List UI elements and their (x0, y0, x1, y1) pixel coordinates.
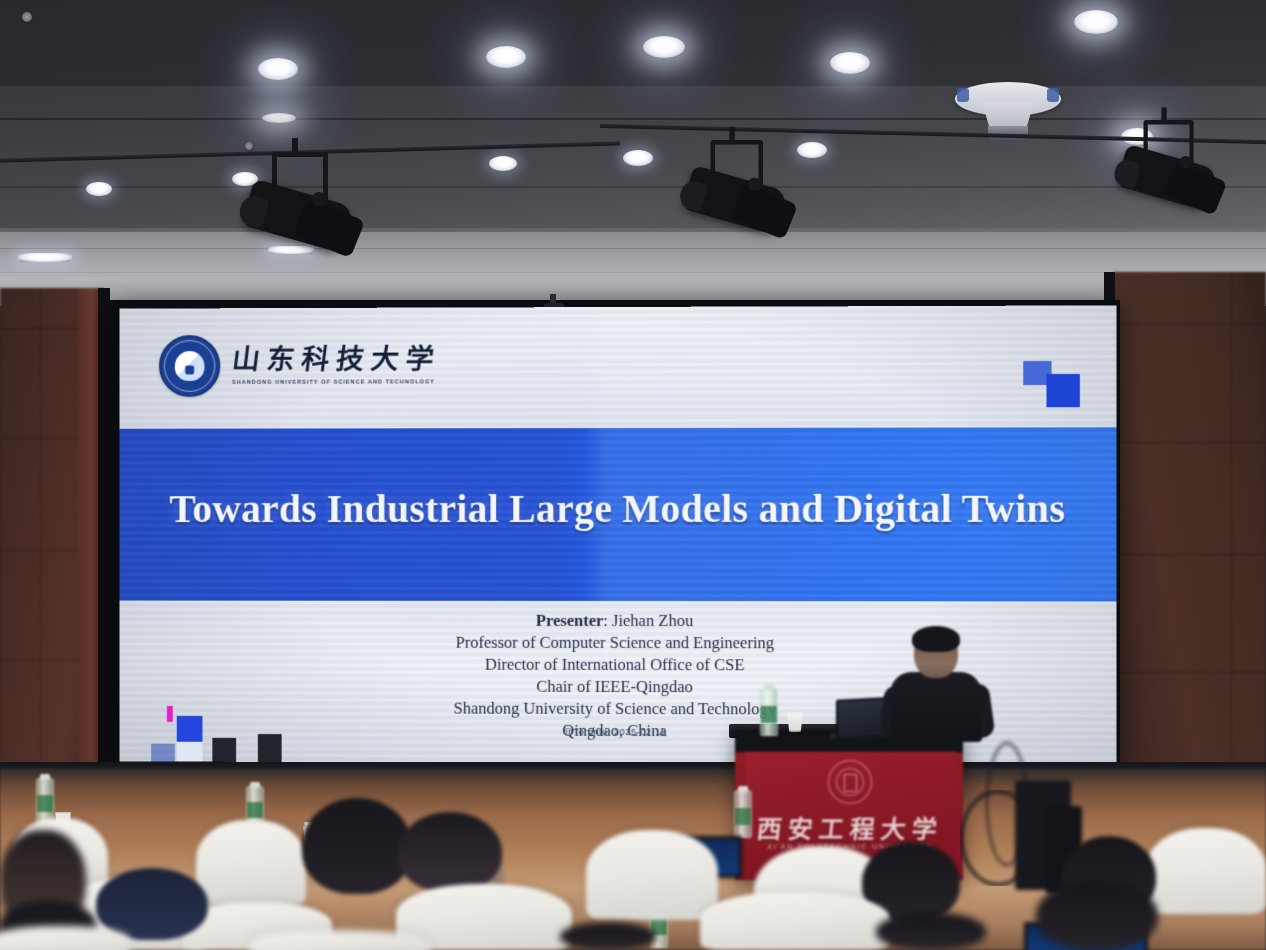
left-wall-paneling (0, 288, 104, 828)
university-logo: 山东科技大学 SHANDONG UNIVERSITY OF SCIENCE AN… (159, 335, 440, 397)
audience-head (876, 912, 986, 950)
slide-deco-squares (1023, 361, 1084, 411)
podium-sign-chinese: 西安工程大学 (743, 810, 957, 846)
ceiling-downlight (262, 113, 296, 123)
audience-chair (196, 820, 306, 906)
audience-chair (586, 830, 718, 920)
wall-shadow-gap (98, 288, 110, 832)
ceiling-downlight (830, 52, 870, 74)
audience-chair (0, 926, 130, 950)
water-bottle (36, 778, 54, 824)
audience-head (398, 812, 502, 892)
audience-head (560, 922, 656, 950)
ceiling-seam (0, 118, 1266, 120)
audience-head (302, 798, 412, 894)
shandong-ust-crest-icon (159, 335, 220, 397)
audience-chair (700, 892, 890, 950)
soffit-seam (0, 248, 1266, 249)
ceiling-downlight (486, 46, 526, 68)
ceiling-soffit (0, 232, 1266, 306)
sprinkler-head (22, 12, 32, 22)
water-bottle (734, 790, 752, 838)
ceiling-downlight (268, 246, 314, 254)
presenter-name: : Jiehan Zhou (603, 611, 693, 630)
ceiling-downlight (258, 58, 298, 80)
ceiling-downlight (489, 156, 517, 171)
slide-deco-bars (151, 690, 299, 762)
water-bottle (760, 688, 778, 736)
ceiling-downlight (797, 142, 827, 158)
slide-title: Towards Industrial Large Models and Digi… (120, 484, 1117, 531)
right-wall-paneling (1113, 272, 1266, 832)
ceiling-downlight (623, 150, 653, 166)
presentation-hall-photo: 山东科技大学 SHANDONG UNIVERSITY OF SCIENCE AN… (0, 0, 1266, 950)
sprinkler-head (245, 142, 253, 150)
ceiling-downlight (18, 253, 72, 262)
audience-head (1036, 880, 1158, 950)
audience-chair (1146, 828, 1266, 914)
presenter-person (888, 628, 984, 740)
logo-english-name: SHANDONG UNIVERSITY OF SCIENCE AND TECHN… (232, 379, 440, 385)
ceiling-panel (0, 0, 1266, 86)
ceiling-seam (0, 186, 1266, 188)
xian-polytechnic-crest-icon (828, 760, 872, 804)
ceiling-downlight (643, 36, 685, 58)
audience-head-cap (96, 868, 208, 940)
audience-chair (250, 930, 430, 950)
presenter-label: Presenter (536, 611, 603, 630)
soffit-seam (0, 272, 1266, 273)
logo-chinese-name: 山东科技大学 (230, 346, 442, 374)
ceiling-downlight (1074, 10, 1118, 34)
ceiling-downlight (86, 182, 112, 196)
